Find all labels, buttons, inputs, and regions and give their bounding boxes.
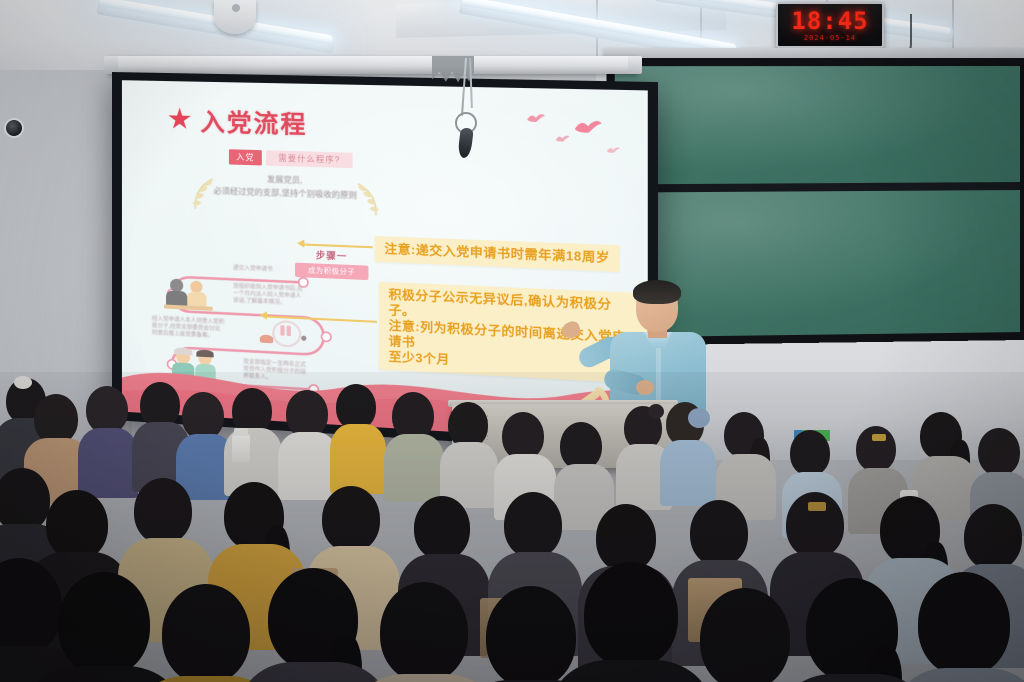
ceiling-seam	[952, 0, 954, 50]
screen-housing-cap	[628, 56, 642, 74]
red-star-icon	[168, 107, 191, 131]
step-title: 步骤一	[295, 247, 368, 263]
flow-text-2: 党组织收到入党申请书后,在一个月内派人同入党申请人谈话,了解基本情况。	[233, 283, 303, 308]
bird-icon	[555, 133, 571, 144]
slide-title-row: 入党流程	[168, 101, 307, 140]
slide-badge-row: 入党 需要什么程序?	[229, 149, 353, 168]
callout-arrow-1	[297, 239, 304, 247]
badge-secondary: 需要什么程序?	[266, 150, 353, 168]
flow-illustration-1	[164, 276, 223, 309]
screen-housing	[108, 56, 638, 74]
slide-title: 入党流程	[200, 102, 307, 140]
bottle-cap	[234, 428, 248, 436]
badge-primary: 入党	[229, 149, 262, 165]
wall-sensor-icon	[4, 118, 24, 138]
water-bottle	[232, 434, 250, 462]
bird-icon	[606, 145, 621, 155]
callout-arrow-2	[260, 311, 267, 320]
smoke-detector-led	[232, 4, 240, 12]
digital-wall-clock: 18:45 2024-05-14	[776, 2, 884, 48]
clock-date: 2024-05-14	[804, 34, 856, 42]
flow-text-3: 经入党申请人本人同意入党积极分子,经党支部委员会讨论同意后报上级党委备案。	[152, 316, 225, 341]
flow-illustration-2	[260, 319, 308, 350]
slide-subtitle-block: 发展党员, 必须经过党的支部,坚持个别吸收的原则	[182, 170, 390, 203]
callout-box-1: 注意:递交入党申请书时需年满18周岁	[375, 236, 620, 272]
audience	[0, 372, 1024, 682]
clock-time: 18:45	[791, 9, 868, 33]
bird-icon	[526, 111, 546, 124]
bird-icon	[573, 116, 604, 136]
classroom-photo: 18:45 2024-05-14 入党流程 入党 需要什么程序?	[0, 0, 1024, 682]
lecturer-hair	[633, 280, 681, 304]
chalkboard-panel-top	[615, 66, 1020, 184]
